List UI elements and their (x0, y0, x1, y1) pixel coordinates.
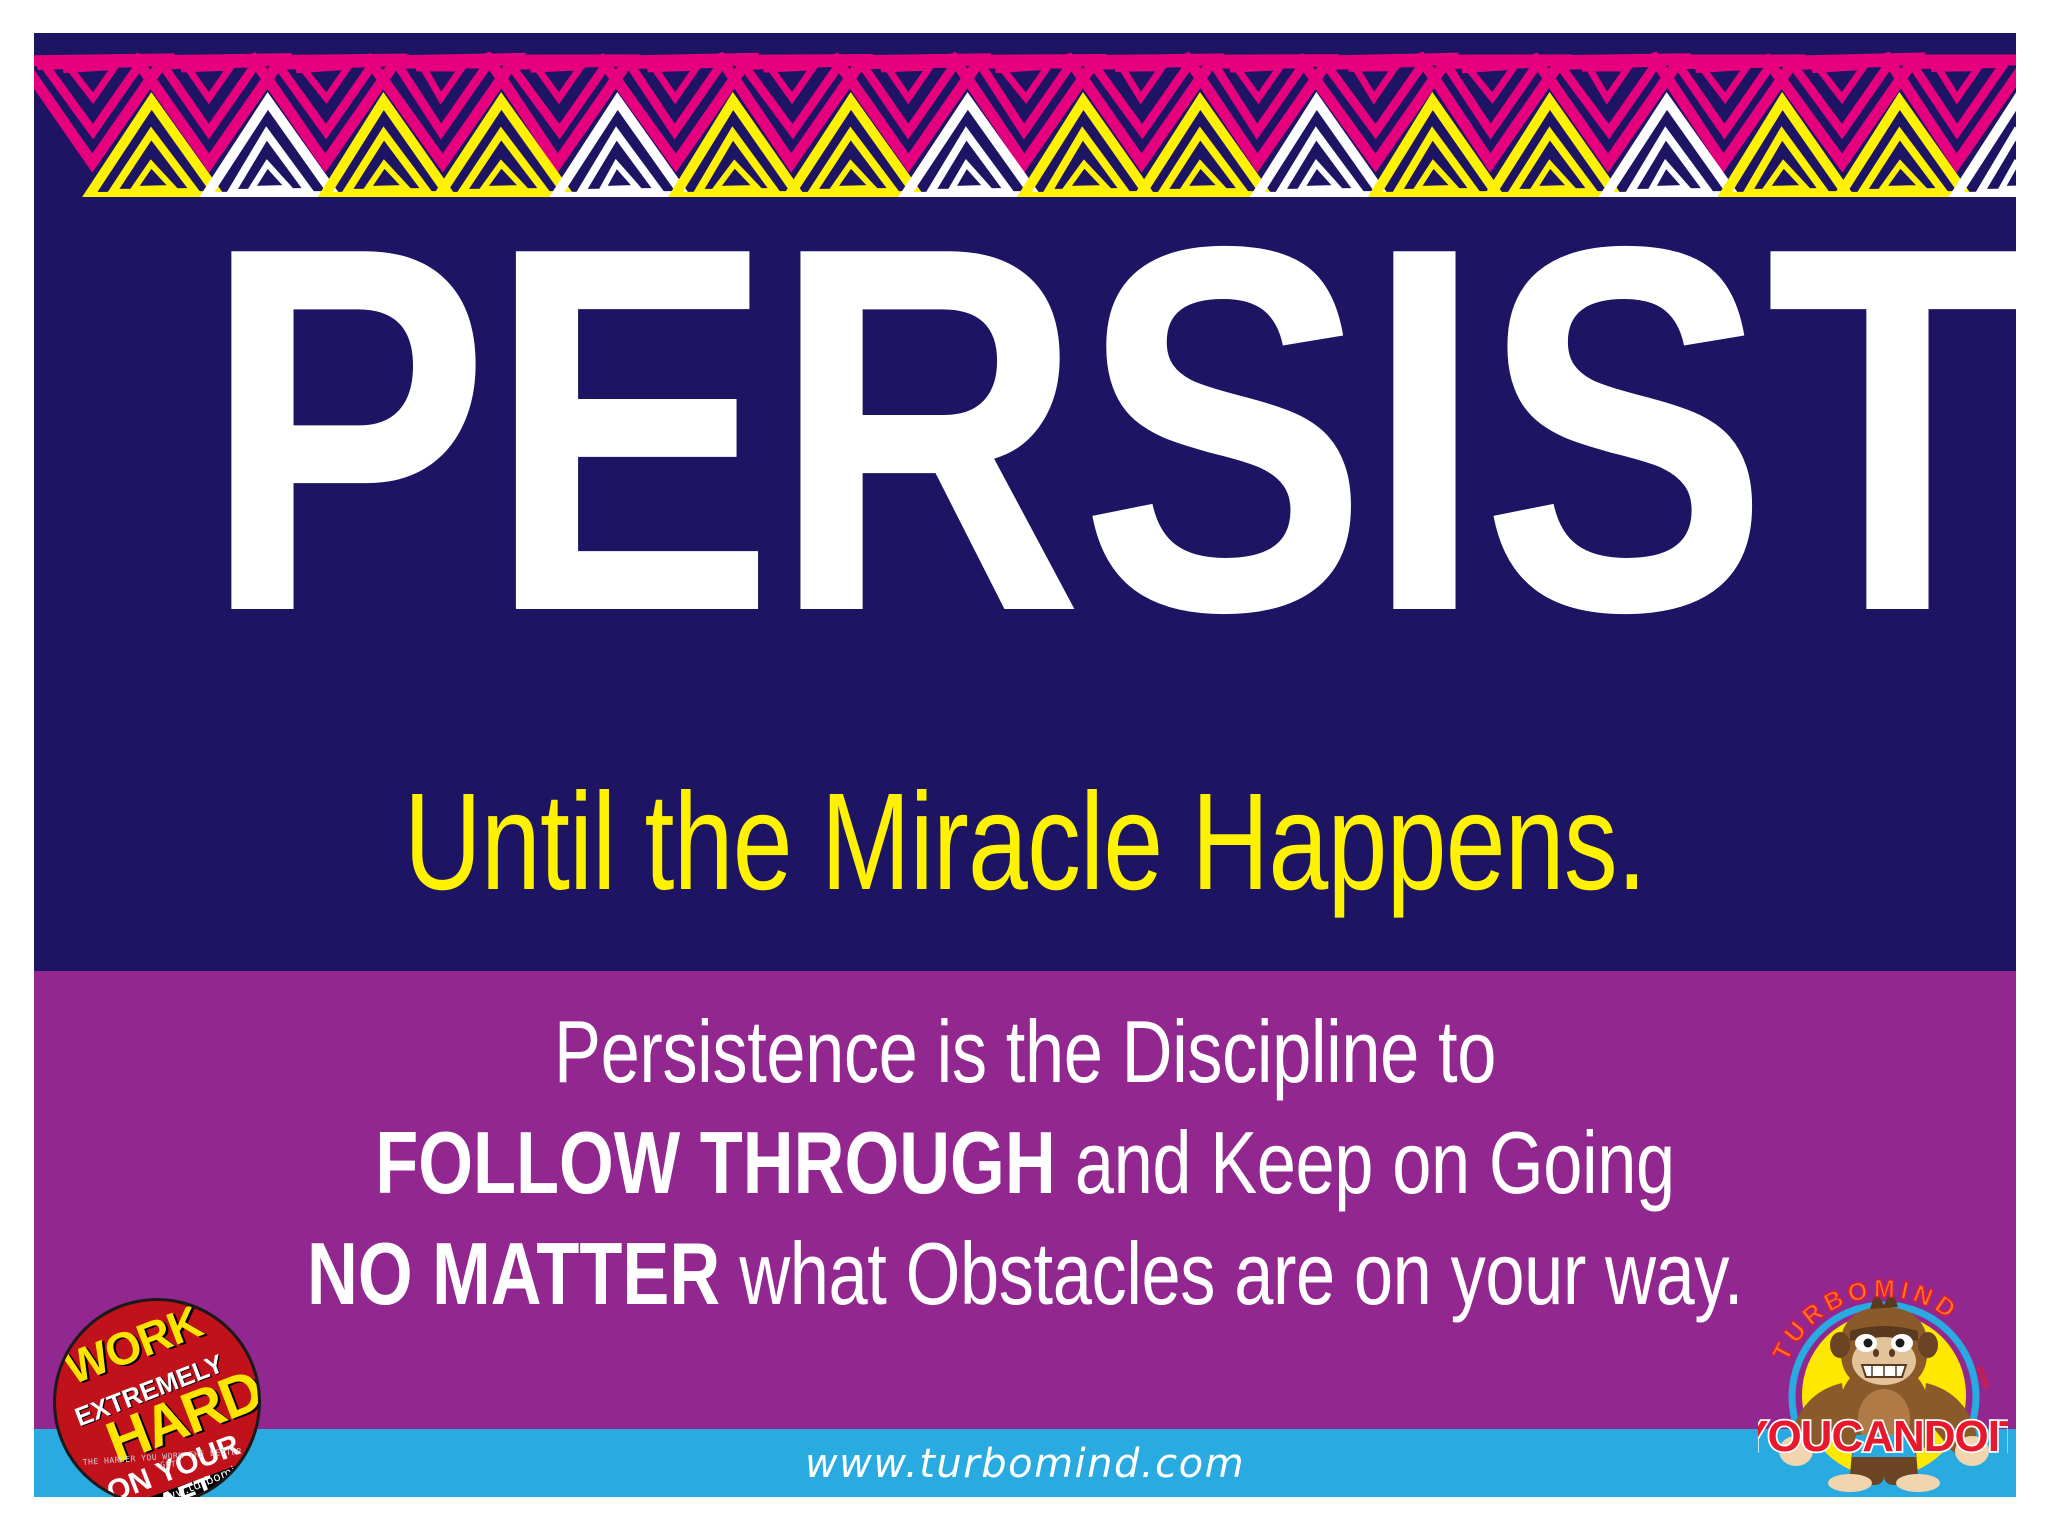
subtitle: Until the Miracle Happens. (252, 773, 1798, 911)
logo-slogan: YOUCANDOIT (1758, 1412, 2008, 1461)
navy-band: PERSIST Until the Miracle Happens. (34, 33, 2016, 971)
footer-band: www.turbomind.com (34, 1429, 2016, 1497)
page-title: PERSIST (203, 188, 1848, 672)
poster-frame: PERSIST Until the Miracle Happens. Persi… (34, 33, 2016, 1497)
work-extremely-hard-badge: WORK EXTREMELY HARD ON YOUR CRAFT THE HA… (53, 1298, 261, 1497)
turbomind-logo[interactable]: TURBOMIND .com YOUCANDOIT (1758, 1279, 2008, 1497)
footer-url[interactable]: www.turbomind.com (34, 1441, 2016, 1487)
body-line-3-rest: what Obstacles are on your way. (720, 1224, 1743, 1323)
turbomind-logo-svg: TURBOMIND .com YOUCANDOIT (1758, 1279, 2008, 1497)
body-line-1: Persistence is the Discipline to (232, 997, 1818, 1108)
badge-text-group: WORK EXTREMELY HARD ON YOUR CRAFT THE HA… (56, 1301, 258, 1497)
purple-band: Persistence is the Discipline to FOLLOW … (34, 971, 2016, 1429)
body-line-2-rest: and Keep on Going (1056, 1113, 1675, 1212)
body-line-3: NO MATTER what Obstacles are on your way… (232, 1219, 1818, 1330)
body-line-2: FOLLOW THROUGH and Keep on Going (232, 1108, 1818, 1219)
body-line-2-emphasis: FOLLOW THROUGH (375, 1113, 1055, 1212)
body-line-3-emphasis: NO MATTER (307, 1224, 720, 1323)
body-copy: Persistence is the Discipline to FOLLOW … (232, 997, 1818, 1330)
